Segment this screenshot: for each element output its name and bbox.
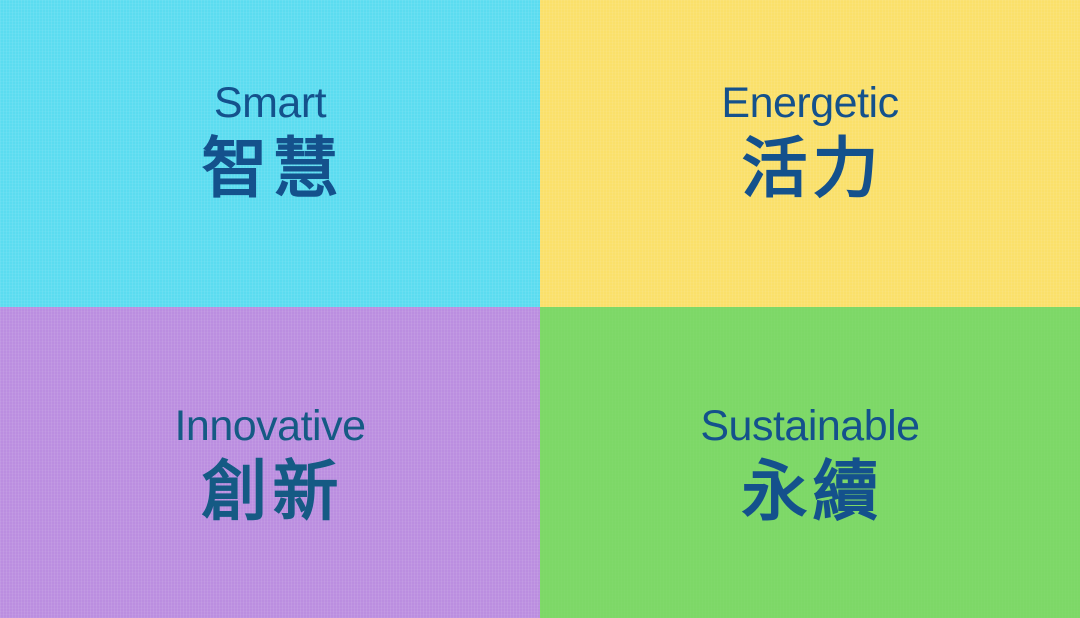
value-label-zh-innovative: 創新 xyxy=(197,455,344,529)
quadrant-smart: Smart 智慧 xyxy=(0,0,540,307)
quadrant-energetic: Energetic 活力 xyxy=(540,0,1080,307)
value-label-zh-sustainable: 永續 xyxy=(736,455,883,529)
value-text-block-energetic: Energetic 活力 xyxy=(721,81,898,206)
value-label-en-smart: Smart xyxy=(214,81,326,126)
value-label-zh-energetic: 活力 xyxy=(736,132,883,206)
value-label-en-innovative: Innovative xyxy=(174,404,365,449)
quadrant-innovative: Innovative 創新 xyxy=(0,307,540,618)
value-text-block-sustainable: Sustainable 永續 xyxy=(700,404,919,529)
value-label-en-sustainable: Sustainable xyxy=(700,404,919,449)
quadrant-grid: Smart 智慧 Energetic 活力 Innovative 創新 Sust… xyxy=(0,0,1080,618)
brand-values-poster: Smart 智慧 Energetic 活力 Innovative 創新 Sust… xyxy=(0,0,1080,618)
value-text-block-innovative: Innovative 創新 xyxy=(174,404,365,529)
quadrant-sustainable: Sustainable 永續 xyxy=(540,307,1080,618)
value-label-en-energetic: Energetic xyxy=(721,81,898,126)
value-label-zh-smart: 智慧 xyxy=(197,132,344,206)
value-text-block-smart: Smart 智慧 xyxy=(197,81,344,206)
